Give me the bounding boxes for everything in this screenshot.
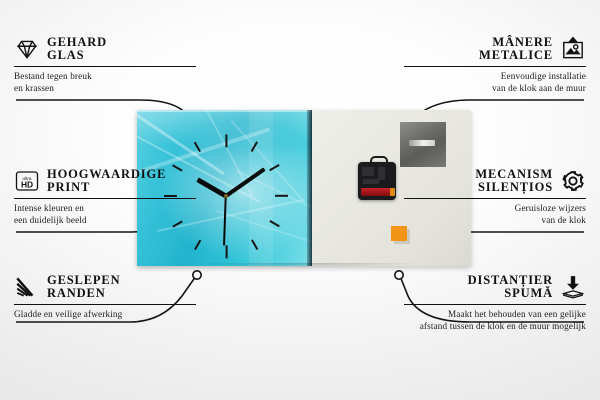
svg-text:HD: HD [21,180,33,190]
battery-plus-terminal [390,188,395,196]
feature-title-line: DISTANȚIER [468,274,553,287]
feature-subtitle-line: van de klok aan de muur [404,82,586,94]
feature-subtitle-line: Geruisloze wijzers [404,202,586,214]
feature-title-line: SILENȚIOS [478,181,553,194]
feature-title-line: GEHARD [47,36,107,49]
clock-mechanism [358,162,396,200]
feature-geslepen-randen: GESLEPEN RANDEN Gladde en veilige afwerk… [14,274,196,320]
feature-subtitle-line: een duidelijk beeld [14,214,196,226]
feature-title-line: MECANISM [475,168,553,181]
feature-title-line: HOOGWAARDIGE [47,168,166,181]
feature-subtitle-line: en krassen [14,82,196,94]
feature-gehard-glas: GEHARD GLAS Bestand tegen breuk en krass… [14,36,196,95]
feature-title-line: RANDEN [47,287,121,300]
clock-tick [251,142,258,152]
feature-divider [404,304,586,305]
foam-spacer-icon [560,274,586,300]
beveled-edges-icon [14,274,40,300]
clock-tick [225,134,227,147]
second-hand [224,196,227,246]
hour-hand [196,177,227,197]
mechanism-hanger-loop [370,156,388,167]
mechanism-detail [378,167,385,180]
feature-manere-metalice: MÂNERE METALICE Eenvoudige installatie v… [404,36,586,95]
clock-tick [194,142,201,152]
feature-divider [404,66,586,67]
diamond-icon [14,36,40,62]
feature-divider [14,198,196,199]
feature-subtitle-line: Bestand tegen breuk [14,70,196,82]
feature-distantier-spuma: DISTANȚIER SPUMĂ Maakt het behouden van … [404,274,586,333]
feature-title-line: METALICE [479,49,553,62]
feature-divider [14,66,196,67]
metal-hanger-plate [400,122,446,167]
feature-subtitle-line: Intense kleuren en [14,202,196,214]
clock-tick [270,221,280,228]
feature-hoogwaardige-print: ultra HD HOOGWAARDIGE PRINT Intense kleu… [14,168,196,227]
clock-tick [275,195,288,197]
clock-tick [194,240,201,250]
ultra-hd-icon: ultra HD [14,168,40,194]
feature-title-line: GLAS [47,49,107,62]
feature-subtitle-line: van de klok [404,214,586,226]
mechanism-detail [362,167,374,176]
mechanism-detail [363,179,379,184]
clock-hub [224,194,228,198]
feature-subtitle-line: Gladde en veilige afwerking [14,308,196,320]
gear-icon [560,168,586,194]
foam-spacer [391,226,407,241]
feature-subtitle-line: Eenvoudige installatie [404,70,586,82]
clock-tick [270,164,280,171]
feature-title-line: SPUMĂ [504,287,553,300]
hanger-slot [409,140,435,146]
feature-title-line: MÂNERE [492,36,553,49]
feature-subtitle-line: Maakt het behouden van een gelijke [404,308,586,320]
minute-hand [225,167,266,197]
picture-hanger-icon [560,36,586,62]
feature-divider [404,198,586,199]
feature-mecanism-silentios: MECANISM SILENȚIOS Geruisloze wijzers va… [404,168,586,227]
feature-title-line: PRINT [47,181,166,194]
infographic-canvas: GEHARD GLAS Bestand tegen breuk en krass… [0,0,600,400]
clock-tick [251,240,258,250]
product-shadow [141,263,471,273]
feature-divider [14,304,196,305]
feature-subtitle-line: afstand tussen de klok en de muur mogeli… [404,320,586,332]
clock-tick [225,245,227,258]
feature-title-line: GESLEPEN [47,274,121,287]
battery [361,188,393,196]
